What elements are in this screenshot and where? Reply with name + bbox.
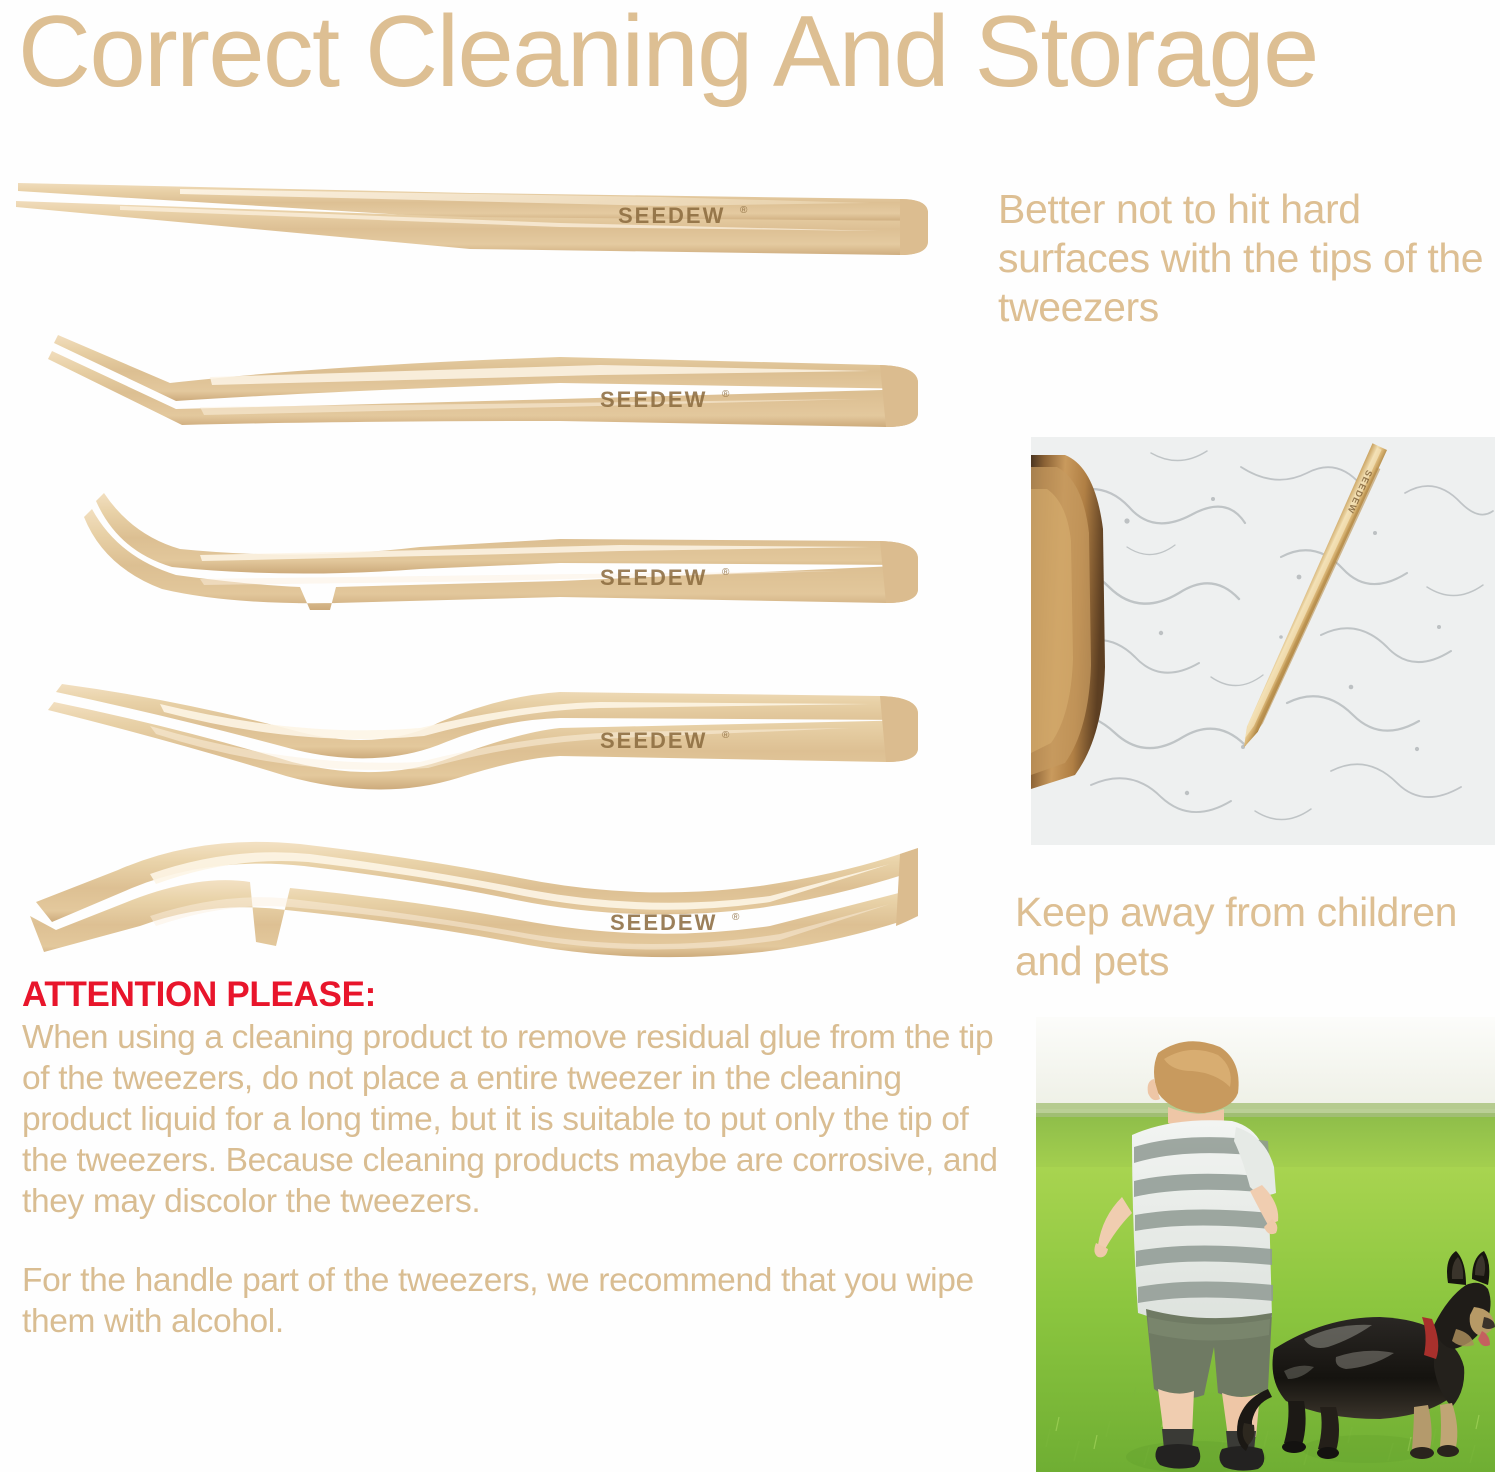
right-column: Better not to hit hard surfaces with the…: [995, 0, 1500, 1472]
product-image-angled-boot-tweezer: SEEDEW ®: [0, 325, 940, 435]
brand-engraving: SEEDEW: [618, 203, 725, 228]
brand-engraving: SEEDEW: [600, 387, 707, 412]
brand-reg-mark: ®: [740, 205, 748, 216]
attention-heading: ATTENTION PLEASE:: [22, 975, 1007, 1015]
product-image-j-curved-tweezer: SEEDEW ®: [0, 475, 940, 620]
product-image-straight-pointed-tweezer: SEEDEW ®: [0, 165, 940, 275]
brand-engraving: SEEDEW: [600, 728, 707, 753]
brand-engraving: SEEDEW: [600, 565, 707, 590]
attention-paragraph-2: For the handle part of the tweezers, we …: [22, 1260, 1007, 1342]
product-image-curved-volume-tweezer: SEEDEW ®: [0, 670, 940, 800]
brand-reg-mark: ®: [732, 912, 740, 923]
brand-engraving: SEEDEW: [610, 910, 717, 935]
brand-reg-mark: ®: [722, 567, 730, 578]
paragraph-spacer: [22, 1222, 1007, 1260]
infographic-page: Correct Cleaning And Storage: [0, 0, 1500, 1472]
tweezer-on-marble-photo: SEEDEW: [1031, 437, 1495, 845]
child-and-dog-photo: [1036, 1017, 1495, 1472]
brand-reg-mark: ®: [722, 389, 730, 400]
brand-reg-mark: ®: [722, 730, 730, 741]
attention-block: ATTENTION PLEASE: When using a cleaning …: [22, 975, 1007, 1342]
attention-paragraph-1: When using a cleaning product to remove …: [22, 1017, 1007, 1222]
tweezer-product-stack: SEEDEW ®: [0, 165, 960, 965]
note-keep-away: Keep away from children and pets: [1015, 888, 1495, 986]
product-image-s-curve-fiber-tip-tweezer: SEEDEW ®: [0, 830, 940, 965]
note-hit-hard-surfaces: Better not to hit hard surfaces with the…: [998, 185, 1498, 332]
